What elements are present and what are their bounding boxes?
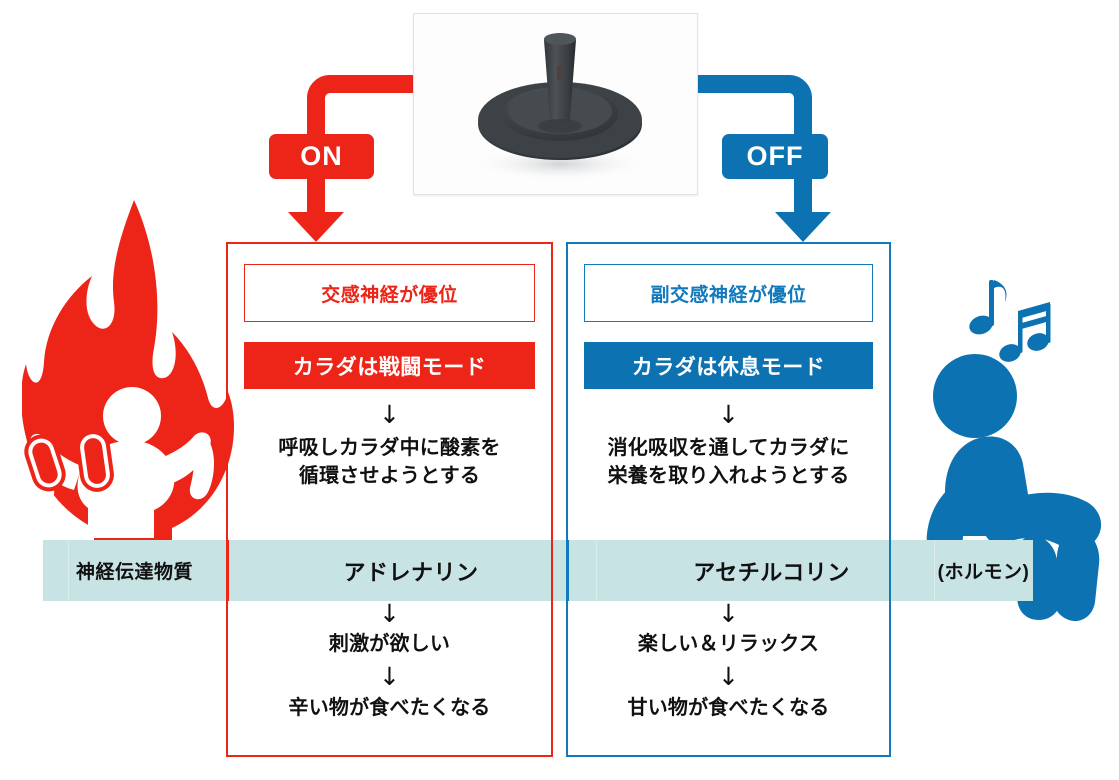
flow-line-2: 循環させようとする xyxy=(236,462,543,490)
panel-parasympathetic-flow-2: 楽しい＆リラックス xyxy=(576,630,881,658)
flow-line-1: 消化吸収を通してカラダに xyxy=(576,434,881,462)
down-arrow-icon: ↓ xyxy=(228,601,551,626)
panel-sympathetic-flow-3: 辛い物が食べたくなる xyxy=(236,694,543,722)
band-row-label: 神経伝達物質 xyxy=(43,540,226,601)
panel-parasympathetic: 副交感神経が優位 カラダは休息モード ↓ 消化吸収を通してカラダに 栄養を取り入… xyxy=(566,242,891,757)
panel-parasympathetic-flow-3: 甘い物が食べたくなる xyxy=(576,694,881,722)
panel-parasympathetic-mode-bar: カラダは休息モード xyxy=(584,342,873,389)
flame-flexing-figure-icon xyxy=(22,198,237,568)
flow-line-2: 栄養を取り入れようとする xyxy=(576,462,881,490)
panel-border-segment xyxy=(226,540,229,601)
down-arrow-icon: ↓ xyxy=(568,402,889,427)
panel-sympathetic-flow-1: 呼吸しカラダ中に酸素を 循環させようとする xyxy=(236,434,543,491)
panel-parasympathetic-title: 副交感神経が優位 xyxy=(584,264,873,322)
toggle-switch-lever-icon xyxy=(414,14,697,194)
down-arrow-icon: ↓ xyxy=(568,664,889,689)
panel-border-segment xyxy=(551,540,554,601)
flow-line-1: 呼吸しカラダ中に酸素を xyxy=(236,434,543,462)
toggle-switch-image-card xyxy=(413,13,698,195)
down-arrow-icon: ↓ xyxy=(228,664,551,689)
diagram-canvas: 神経伝達物質 アドレナリン アセチルコリン (ホルモン) 交感神経が優位 カラダ… xyxy=(0,0,1119,780)
panel-border-segment xyxy=(566,540,569,601)
down-arrow-icon: ↓ xyxy=(228,402,551,427)
off-badge[interactable]: OFF xyxy=(722,134,828,179)
panel-sympathetic-flow-2: 刺激が欲しい xyxy=(236,630,543,658)
on-badge[interactable]: ON xyxy=(269,134,374,179)
panel-border-segment xyxy=(889,540,892,601)
panel-sympathetic-title: 交感神経が優位 xyxy=(244,264,535,322)
band-right-label: (ホルモン) xyxy=(934,540,1033,601)
down-arrow-icon: ↓ xyxy=(568,601,889,626)
panel-sympathetic-mode-bar: カラダは戦闘モード xyxy=(244,342,535,389)
panel-sympathetic: 交感神経が優位 カラダは戦闘モード ↓ 呼吸しカラダ中に酸素を 循環させようとす… xyxy=(226,242,553,757)
panel-parasympathetic-flow-1: 消化吸収を通してカラダに 栄養を取り入れようとする xyxy=(576,434,881,491)
